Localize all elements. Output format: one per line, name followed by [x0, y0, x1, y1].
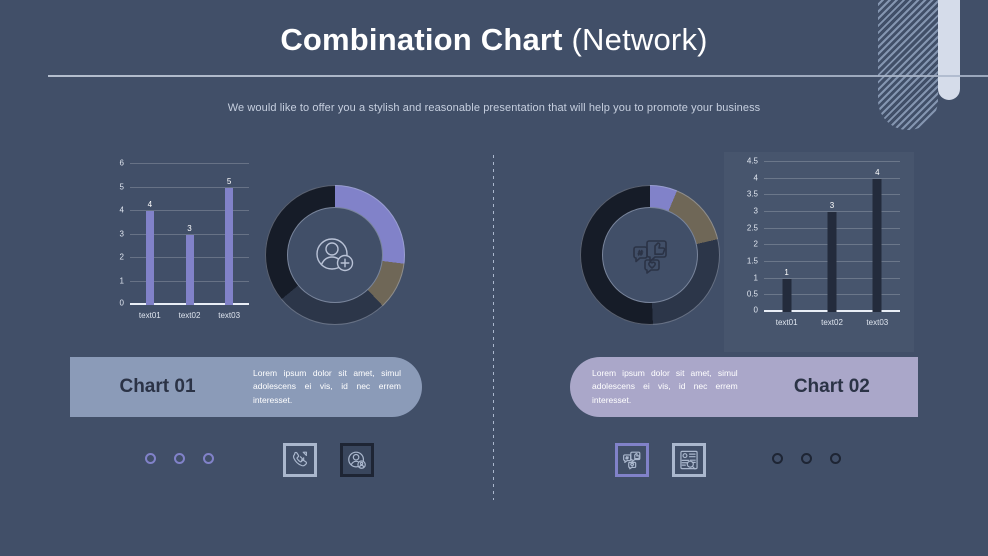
y-axis-tick-label: 6 [120, 159, 124, 168]
social-chat-icon [622, 227, 678, 283]
y-axis-tick-label: 2 [120, 253, 124, 262]
user-profile-icon-box[interactable] [340, 443, 374, 477]
social-feedback-icon-box[interactable] [615, 443, 649, 477]
phone-call-icon-box[interactable] [283, 443, 317, 477]
left-bar-chart: 01234564text013text025text03 [104, 158, 254, 333]
chart-01-description: Lorem ipsum dolor sit amet, simul adoles… [253, 367, 401, 407]
x-axis-tick-label: text03 [218, 311, 240, 320]
page-title: Combination Chart (Network) [0, 22, 988, 58]
chart-02-description: Lorem ipsum dolor sit amet, simul adoles… [592, 367, 738, 407]
y-axis-tick-label: 3.5 [747, 190, 758, 199]
user-profile-icon [346, 449, 368, 471]
bar: 4 [146, 211, 154, 305]
right-pagination-dots[interactable] [772, 453, 841, 464]
bar-value-label: 3 [830, 201, 834, 210]
pagination-dot[interactable] [145, 453, 156, 464]
y-axis-tick-label: 3 [120, 229, 124, 238]
y-axis-tick-label: 2 [754, 240, 758, 249]
y-axis-tick-label: 3 [754, 207, 758, 216]
y-axis-tick-label: 4 [754, 173, 758, 182]
header-divider [48, 75, 988, 77]
pagination-dot[interactable] [203, 453, 214, 464]
right-donut-chart [580, 185, 720, 325]
x-axis-tick-label: text01 [139, 311, 161, 320]
x-axis-tick-label: text03 [866, 318, 888, 327]
pagination-dot[interactable] [772, 453, 783, 464]
bar-value-label: 5 [227, 177, 231, 186]
y-axis-tick-label: 4 [120, 206, 124, 215]
y-axis-tick-label: 4.5 [747, 157, 758, 166]
bar-value-label: 4 [148, 200, 152, 209]
chart-01-caption-panel[interactable]: Chart 01 Lorem ipsum dolor sit amet, sim… [70, 357, 422, 417]
left-bar-plot-area: 01234564text013text025text03 [130, 164, 249, 305]
document-search-icon-box[interactable] [672, 443, 706, 477]
y-axis-tick-label: 1 [120, 276, 124, 285]
chart-02-caption-panel[interactable]: Lorem ipsum dolor sit amet, simul adoles… [570, 357, 918, 417]
page-title-bold: Combination Chart [280, 22, 562, 57]
x-axis-tick-label: text02 [821, 318, 843, 327]
bar-value-label: 1 [784, 268, 788, 277]
page-title-light: (Network) [572, 22, 708, 57]
y-axis-tick-label: 1.5 [747, 257, 758, 266]
chart-01-title: Chart 01 [70, 376, 245, 398]
bar: 3 [828, 212, 837, 312]
pagination-dot[interactable] [830, 453, 841, 464]
document-search-icon [678, 449, 700, 471]
vertical-dashed-divider [493, 155, 494, 500]
y-axis-tick-label: 1 [754, 273, 758, 282]
add-user-icon [307, 227, 363, 283]
y-axis-tick-label: 0 [754, 306, 758, 315]
bar: 3 [186, 235, 194, 306]
y-axis-tick-label: 0.5 [747, 290, 758, 299]
bar-value-label: 3 [187, 224, 191, 233]
bar-value-label: 4 [875, 168, 879, 177]
right-bar-plot-area: 00.511.522.533.544.51text013text024text0… [764, 162, 900, 312]
x-axis-tick-label: text01 [776, 318, 798, 327]
pagination-dot[interactable] [174, 453, 185, 464]
right-bar-chart: 00.511.522.533.544.51text013text024text0… [724, 152, 914, 352]
bar: 5 [225, 188, 233, 306]
gridline: 4.5 [764, 161, 900, 162]
chart-02-title: Chart 02 [746, 376, 918, 398]
y-axis-tick-label: 5 [120, 182, 124, 191]
pagination-dot[interactable] [801, 453, 812, 464]
bar: 4 [873, 179, 882, 312]
y-axis-tick-label: 2.5 [747, 223, 758, 232]
left-pagination-dots[interactable] [145, 453, 214, 464]
page-subtitle: We would like to offer you a stylish and… [0, 102, 988, 114]
left-donut-chart [265, 185, 405, 325]
gridline: 6 [130, 163, 249, 164]
y-axis-tick-label: 0 [120, 299, 124, 308]
slide-canvas: Combination Chart (Network) We would lik… [0, 0, 988, 556]
phone-call-icon [289, 449, 311, 471]
x-axis-tick-label: text02 [179, 311, 201, 320]
social-feedback-icon [621, 449, 643, 471]
bar: 1 [782, 279, 791, 312]
